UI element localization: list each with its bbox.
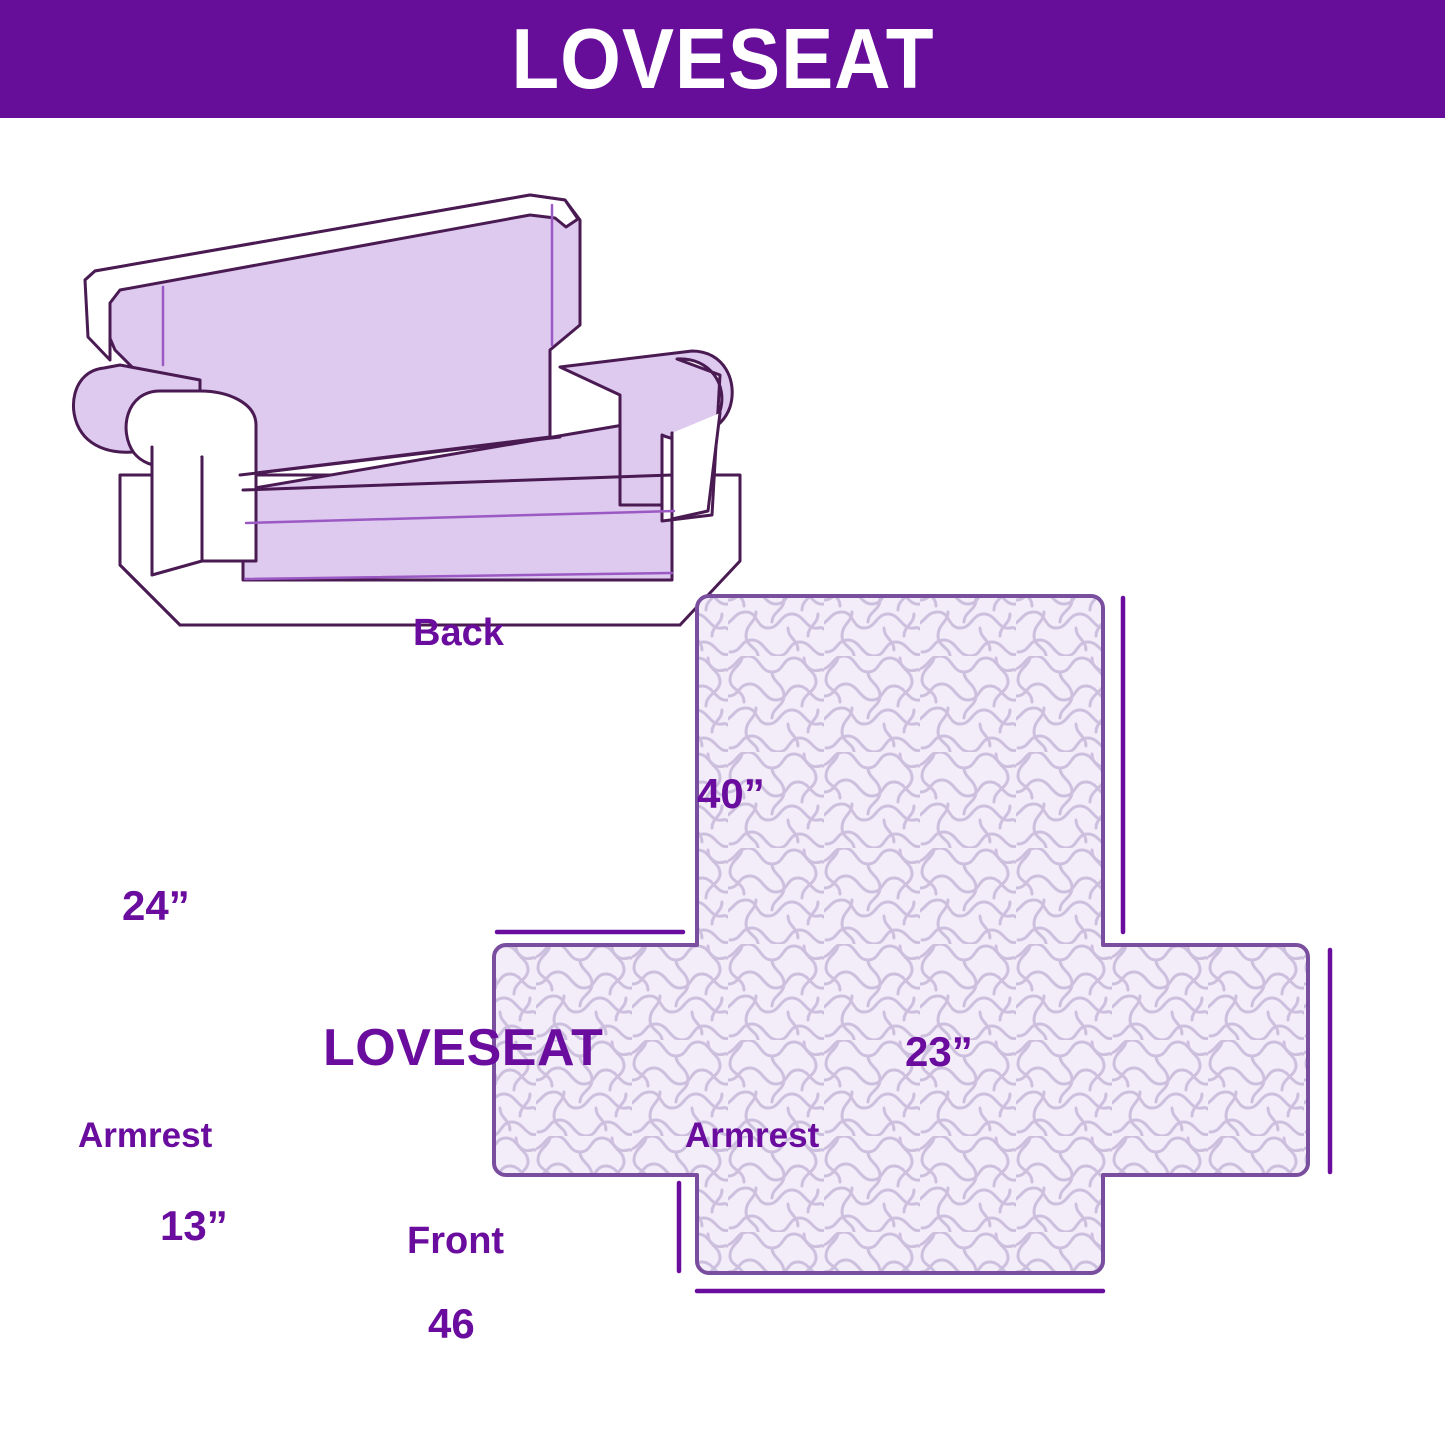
dimension-label-back-height: 40” — [697, 770, 765, 818]
panel-label-armrest-left: Armrest — [78, 1116, 212, 1156]
panel-label-front: Front — [407, 1220, 504, 1263]
header-banner: LOVESEAT — [0, 0, 1445, 118]
panel-label-armrest-right: Armrest — [685, 1116, 819, 1156]
cover-pattern-diagram — [440, 560, 1445, 1380]
panel-label-back: Back — [413, 612, 504, 655]
dimension-label-back-inset: 24” — [122, 882, 190, 930]
slipcover-cross-shape — [494, 596, 1308, 1273]
page-title: LOVESEAT — [511, 17, 934, 102]
dimension-label-front-height: 13” — [160, 1202, 228, 1250]
dimension-label-front-width: 46 — [428, 1300, 475, 1348]
dimension-label-armrest-height: 23” — [905, 1028, 973, 1076]
product-spec-image: LOVESEAT .ln { fill:none; stroke:#4A1A52… — [0, 0, 1445, 1445]
panel-label-loveseat: LOVESEAT — [323, 1018, 603, 1078]
